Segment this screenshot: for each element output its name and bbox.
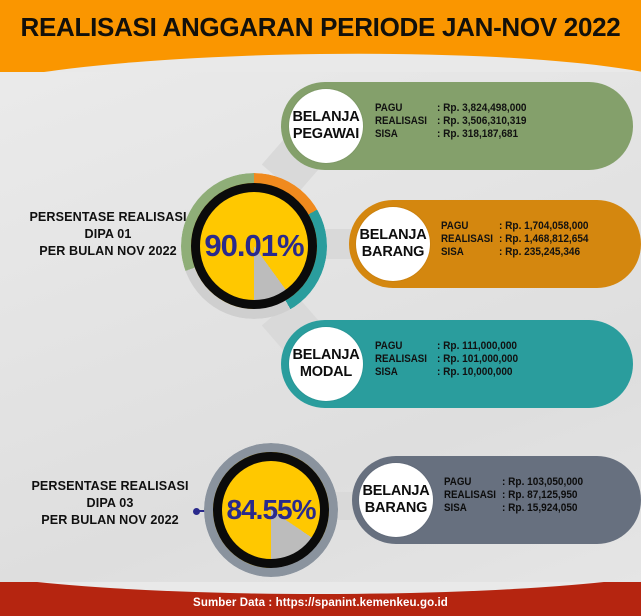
label-pagu: PAGU [375,340,432,352]
rows-belanja-modal: PAGU : Rp. 111,000,000 REALISASI : Rp. 1… [375,340,522,378]
label-sisa: SISA [441,246,494,258]
caption-dipa-01-line2: DIPA 01 [18,226,198,243]
percent-value-dipa-03: 84.55% [227,494,316,526]
card-belanja-barang[interactable]: BELANJA BARANG PAGU : Rp. 1,704,058,000 … [349,200,641,288]
row-pagu-pegawai: PAGU : Rp. 3,824,498,000 [375,102,531,114]
row-sisa-barang: SISA : Rp. 235,245,346 [441,246,593,258]
caption-dipa-03-line1: PERSENTASE REALISASI [20,478,200,495]
badge-belanja-barang-dipa03: BELANJA BARANG [359,463,433,537]
row-pagu-modal: PAGU : Rp. 111,000,000 [375,340,522,352]
badge-belanja-pegawai-line1: BELANJA [292,109,359,126]
connector-dot-dipa-03 [193,508,200,515]
value-realisasi-barang: : Rp. 1,468,812,654 [499,233,589,245]
row-sisa-modal: SISA : Rp. 10,000,000 [375,366,522,378]
label-pagu: PAGU [441,220,494,232]
caption-dipa-03-line3: PER BULAN NOV 2022 [20,512,200,529]
row-sisa-barang-dipa03: SISA : Rp. 15,924,050 [444,502,587,514]
badge-belanja-pegawai: BELANJA PEGAWAI [289,89,363,163]
row-realisasi-modal: REALISASI : Rp. 101,000,000 [375,353,522,365]
value-sisa-barang: : Rp. 235,245,346 [499,246,580,258]
row-pagu-barang: PAGU : Rp. 1,704,058,000 [441,220,593,232]
badge-belanja-modal: BELANJA MODAL [289,327,363,401]
page-title: REALISASI ANGGARAN PERIODE JAN-NOV 2022 [0,14,641,43]
value-realisasi-pegawai: : Rp. 3,506,310,319 [437,115,527,127]
value-pagu-barang: : Rp. 1,704,058,000 [499,220,589,232]
value-realisasi-barang-dipa03: : Rp. 87,125,950 [502,489,578,501]
label-pagu: PAGU [444,476,497,488]
value-pagu-pegawai: : Rp. 3,824,498,000 [437,102,527,114]
badge-belanja-modal-line2: MODAL [300,364,352,381]
badge-belanja-barang-dipa03-line1: BELANJA [362,483,429,500]
label-realisasi: REALISASI [441,233,494,245]
row-sisa-pegawai: SISA : Rp. 318,187,681 [375,128,531,140]
caption-dipa-01-line3: PER BULAN NOV 2022 [18,243,198,260]
value-realisasi-modal: : Rp. 101,000,000 [437,353,518,365]
rows-belanja-barang: PAGU : Rp. 1,704,058,000 REALISASI : Rp.… [441,220,593,258]
infographic-canvas: REALISASI ANGGARAN PERIODE JAN-NOV 2022 … [0,0,641,616]
value-sisa-barang-dipa03: : Rp. 15,924,050 [502,502,578,514]
label-sisa: SISA [375,128,432,140]
label-sisa: SISA [375,366,432,378]
badge-belanja-barang-line1: BELANJA [359,227,426,244]
label-pagu: PAGU [375,102,432,114]
badge-belanja-pegawai-line2: PEGAWAI [293,126,359,143]
row-pagu-barang-dipa03: PAGU : Rp. 103,050,000 [444,476,587,488]
label-realisasi: REALISASI [375,115,432,127]
value-pagu-barang-dipa03: : Rp. 103,050,000 [502,476,583,488]
rows-belanja-barang-dipa03: PAGU : Rp. 103,050,000 REALISASI : Rp. 8… [444,476,587,514]
percent-value-dipa-01: 90.01% [204,228,303,264]
label-realisasi: REALISASI [375,353,432,365]
caption-dipa-01: PERSENTASE REALISASI DIPA 01 PER BULAN N… [18,209,198,260]
value-sisa-pegawai: : Rp. 318,187,681 [437,128,518,140]
value-sisa-modal: : Rp. 10,000,000 [437,366,513,378]
donut-chart-dipa-01: 90.01% [181,173,327,319]
label-sisa: SISA [444,502,497,514]
row-realisasi-pegawai: REALISASI : Rp. 3,506,310,319 [375,115,531,127]
caption-dipa-01-line1: PERSENTASE REALISASI [18,209,198,226]
caption-dipa-03-line2: DIPA 03 [20,495,200,512]
card-belanja-pegawai[interactable]: BELANJA PEGAWAI PAGU : Rp. 3,824,498,000… [281,82,633,170]
label-realisasi: REALISASI [444,489,497,501]
footer-curve-decoration [0,582,641,594]
rows-belanja-pegawai: PAGU : Rp. 3,824,498,000 REALISASI : Rp.… [375,102,531,140]
value-pagu-modal: : Rp. 111,000,000 [437,340,517,352]
donut-chart-dipa-03: 84.55% [204,443,338,577]
row-realisasi-barang: REALISASI : Rp. 1,468,812,654 [441,233,593,245]
badge-belanja-barang: BELANJA BARANG [356,207,430,281]
badge-belanja-modal-line1: BELANJA [292,347,359,364]
row-realisasi-barang-dipa03: REALISASI : Rp. 87,125,950 [444,489,587,501]
card-belanja-modal[interactable]: BELANJA MODAL PAGU : Rp. 111,000,000 REA… [281,320,633,408]
source-text: Sumber Data : https://spanint.kemenkeu.g… [0,597,641,609]
header-curve-decoration [0,49,641,72]
caption-dipa-03: PERSENTASE REALISASI DIPA 03 PER BULAN N… [20,478,200,529]
badge-belanja-barang-dipa03-line2: BARANG [365,500,427,517]
card-belanja-barang-dipa03[interactable]: BELANJA BARANG PAGU : Rp. 103,050,000 RE… [352,456,641,544]
badge-belanja-barang-line2: BARANG [362,244,424,261]
